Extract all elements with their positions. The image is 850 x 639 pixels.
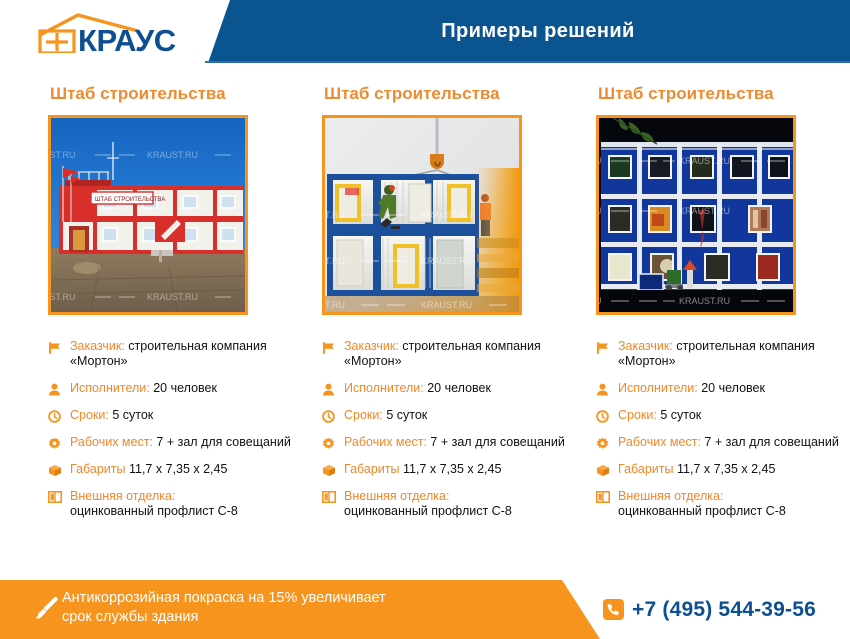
page-header: Примеры решений КРАУС (0, 0, 850, 63)
spec-label: Рабочих мест: (618, 435, 701, 449)
spec-value: 7 + зал для совещаний (156, 435, 290, 449)
spec-value: 7 + зал для совещаний (704, 435, 838, 449)
person-icon (596, 382, 611, 396)
spec-label: Заказчик: (344, 339, 399, 353)
svg-text:KRAUST.RU: KRAUST.RU (421, 300, 472, 310)
page-title: Примеры решений (200, 0, 850, 63)
spec-item: Сроки: 5 суток (48, 408, 300, 423)
spec-item: Сроки: 5 суток (596, 408, 848, 423)
paint-brush-icon (33, 596, 59, 622)
panel-icon (322, 490, 337, 504)
flag-icon (596, 340, 611, 354)
svg-text:KRAUST.RU: KRAUST.RU (679, 296, 730, 306)
spec-item: Внешняя отделка: оцинкованный профлист С… (322, 489, 574, 519)
phone-icon (603, 599, 624, 620)
spec-label: Сроки: (618, 408, 657, 422)
spec-label: Сроки: (70, 408, 109, 422)
spec-value: 20 человек (153, 381, 217, 395)
svg-text:ШТАБ СТРОИТЕЛЬСТВА: ШТАБ СТРОИТЕЛЬСТВА (95, 197, 165, 203)
svg-text:KRAUST.RU: KRAUST.RU (421, 256, 472, 266)
spec-item: Габариты 11,7 x 7,35 x 2,45 (322, 462, 574, 477)
spec-label: Исполнители: (344, 381, 424, 395)
column-heading: Штаб строительства (598, 84, 774, 104)
spec-value: 5 суток (112, 408, 153, 422)
person-icon (48, 382, 63, 396)
svg-text:KRAUST.RU: KRAUST.RU (679, 206, 730, 216)
spec-value: 20 человек (701, 381, 765, 395)
spec-item: Габариты 11,7 x 7,35 x 2,45 (48, 462, 300, 477)
spec-label: Заказчик: (70, 339, 125, 353)
spec-item: Заказчик: строительная компания «Мортон» (596, 339, 848, 369)
footer-promo-line1: Антикоррозийная покраска на 15% увеличив… (62, 589, 512, 608)
spec-value: 5 суток (660, 408, 701, 422)
svg-text:UST.RU: UST.RU (51, 292, 76, 302)
gear-icon (322, 436, 337, 450)
spec-item: Исполнители: 20 человек (48, 381, 300, 396)
spec-list: Заказчик: строительная компания «Мортон»… (48, 339, 300, 531)
example-column-1: Штаб строительства (36, 63, 310, 575)
svg-text:KRAUST.RU: KRAUST.RU (147, 292, 198, 302)
svg-text:KRAUST.RU: KRAUST.RU (421, 210, 472, 220)
svg-text:KRAUST.RU: KRAUST.RU (147, 150, 198, 160)
spec-list: Заказчик: строительная компания «Мортон»… (596, 339, 848, 531)
svg-text:ST.RU: ST.RU (325, 300, 345, 310)
svg-text:КРАУС: КРАУС (78, 23, 176, 53)
example-column-2: Штаб строительства (310, 63, 584, 575)
spec-value: 7 + зал для совещаний (430, 435, 564, 449)
spec-label: Сроки: (344, 408, 383, 422)
photo-blue-modular-building-night: U KRAUST.RU U KRAUST.RU U KRAUST.RU (596, 115, 796, 315)
panel-icon (48, 490, 63, 504)
spec-value: оцинкованный профлист С-8 (344, 504, 512, 518)
brand-logo[interactable]: КРАУС (34, 9, 184, 53)
svg-text:UST.RU: UST.RU (51, 150, 76, 160)
spec-item: Внешняя отделка: оцинкованный профлист С… (48, 489, 300, 519)
clock-icon (322, 409, 337, 423)
spec-value: оцинкованный профлист С-8 (70, 504, 238, 518)
spec-label: Внешняя отделка: (344, 489, 449, 503)
header-blue-band: Примеры решений (200, 0, 850, 63)
spec-item: Исполнители: 20 человек (322, 381, 574, 396)
spec-label: Габариты (618, 462, 674, 476)
spec-label: Габариты (70, 462, 126, 476)
spec-item: Габариты 11,7 x 7,35 x 2,45 (596, 462, 848, 477)
spec-item: Заказчик: строительная компания «Мортон» (322, 339, 574, 369)
panel-icon (596, 490, 611, 504)
spec-item: Рабочих мест: 7 + зал для совещаний (48, 435, 300, 450)
spec-value: 20 человек (427, 381, 491, 395)
spec-label: Внешняя отделка: (70, 489, 175, 503)
spec-label: Исполнители: (618, 381, 698, 395)
photo-crane-lifting-blue-module-worker: ST.RU KRAUST.RU ST.RU KRAUST.RU ST.RU KR… (322, 115, 522, 315)
clock-icon (596, 409, 611, 423)
clock-icon (48, 409, 63, 423)
svg-text:ST.RU: ST.RU (325, 256, 345, 266)
gear-icon (596, 436, 611, 450)
svg-text:U: U (599, 206, 602, 216)
spec-item: Внешняя отделка: оцинкованный профлист С… (596, 489, 848, 519)
spec-label: Рабочих мест: (70, 435, 153, 449)
box-icon (48, 463, 63, 477)
svg-text:U: U (599, 296, 602, 306)
spec-item: Сроки: 5 суток (322, 408, 574, 423)
spec-label: Внешняя отделка: (618, 489, 723, 503)
spec-item: Рабочих мест: 7 + зал для совещаний (596, 435, 848, 450)
gear-icon (48, 436, 63, 450)
spec-item: Заказчик: строительная компания «Мортон» (48, 339, 300, 369)
footer-promo-text: Антикоррозийная покраска на 15% увеличив… (62, 589, 512, 627)
spec-item: Исполнители: 20 человек (596, 381, 848, 396)
spec-value: оцинкованный профлист С-8 (618, 504, 786, 518)
box-icon (322, 463, 337, 477)
phone-number: +7 (495) 544-39-56 (632, 598, 816, 622)
svg-text:KRAUST.RU: KRAUST.RU (679, 156, 730, 166)
contact-phone[interactable]: +7 (495) 544-39-56 (600, 580, 850, 639)
column-heading: Штаб строительства (50, 84, 226, 104)
svg-text:ST.RU: ST.RU (325, 210, 345, 220)
flag-icon (322, 340, 337, 354)
svg-text:U: U (599, 156, 602, 166)
column-heading: Штаб строительства (324, 84, 500, 104)
person-icon (322, 382, 337, 396)
photo-red-white-modular-building-daylight: ШТАБ СТРОИТЕЛЬСТВА (48, 115, 248, 315)
spec-value: 11,7 x 7,35 x 2,45 (403, 462, 501, 476)
box-icon (596, 463, 611, 477)
spec-value: 11,7 x 7,35 x 2,45 (129, 462, 227, 476)
spec-label: Габариты (344, 462, 400, 476)
page-footer: Антикоррозийная покраска на 15% увеличив… (0, 575, 850, 639)
spec-value: 11,7 x 7,35 x 2,45 (677, 462, 775, 476)
examples-columns: Штаб строительства (0, 63, 850, 575)
spec-label: Исполнители: (70, 381, 150, 395)
spec-list: Заказчик: строительная компания «Мортон»… (322, 339, 574, 531)
example-column-3: Штаб строительства (584, 63, 850, 575)
spec-item: Рабочих мест: 7 + зал для совещаний (322, 435, 574, 450)
spec-label: Заказчик: (618, 339, 673, 353)
spec-value: 5 суток (386, 408, 427, 422)
flag-icon (48, 340, 63, 354)
footer-promo-line2: срок службы здания (62, 608, 512, 627)
spec-label: Рабочих мест: (344, 435, 427, 449)
